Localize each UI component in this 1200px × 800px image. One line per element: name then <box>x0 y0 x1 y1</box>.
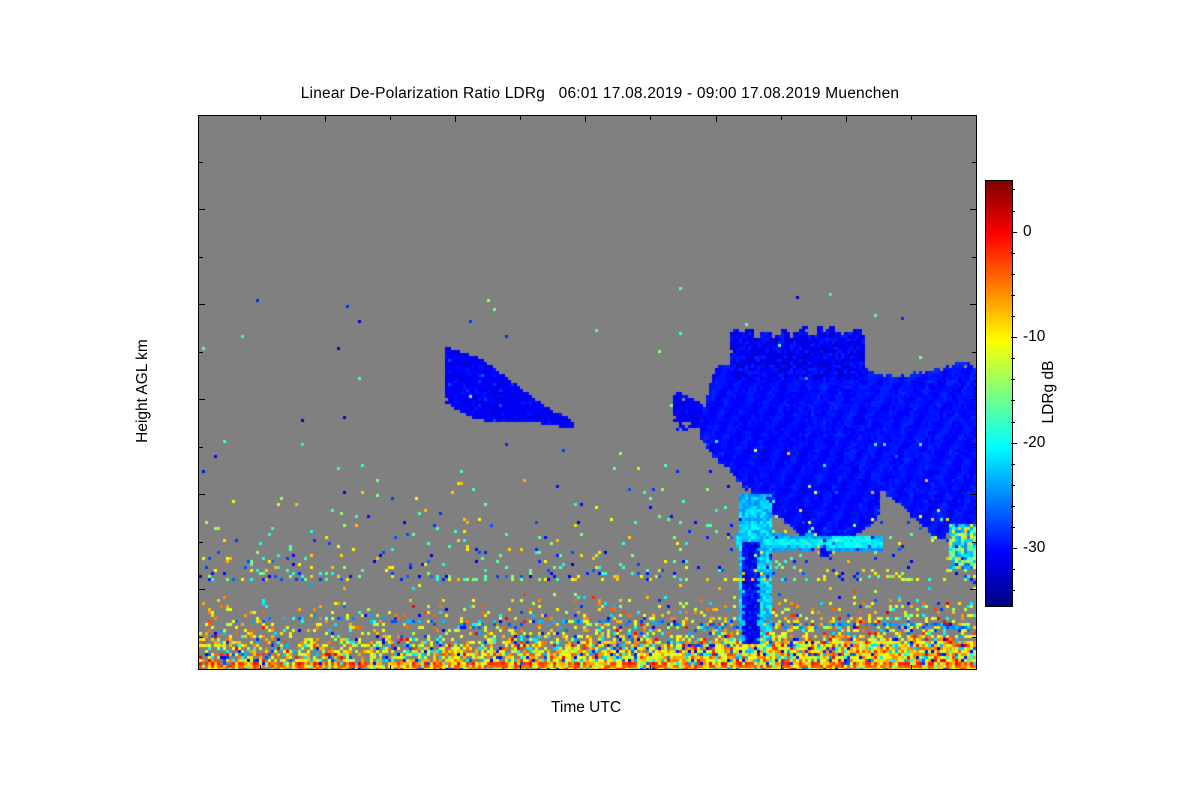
x-minor-tick <box>390 116 391 120</box>
colorbar-minor-tick <box>1011 211 1015 212</box>
x-minor-tick <box>260 665 261 669</box>
x-minor-tick <box>781 665 782 669</box>
x-tick-top <box>455 116 456 122</box>
x-minor-tick <box>781 116 782 120</box>
colorbar-label: LDRg dB <box>1040 361 1058 424</box>
colorbar-tick-label: -30 <box>1023 539 1045 557</box>
colorbar-minor-tick <box>1011 527 1015 528</box>
colorbar-minor-tick <box>1011 464 1015 465</box>
y-minor-tick <box>199 352 203 353</box>
y-minor-tick <box>972 637 976 638</box>
x-minor-tick <box>911 665 912 669</box>
x-minor-tick <box>520 665 521 669</box>
x-minor-tick <box>650 665 651 669</box>
colorbar-minor-tick <box>1011 422 1015 423</box>
colorbar-minor-tick <box>1011 358 1015 359</box>
radar-figure: Linear De-Polarization Ratio LDRg 06:01 … <box>0 0 1200 800</box>
colorbar-gradient <box>985 180 1013 607</box>
x-tick-top <box>585 116 586 122</box>
y-minor-tick <box>199 542 203 543</box>
y-tick-right <box>970 304 976 305</box>
y-tick-right <box>970 589 976 590</box>
y-tick-inner <box>199 589 205 590</box>
colorbar-tick <box>1011 337 1017 338</box>
x-minor-tick <box>390 665 391 669</box>
colorbar-tick-label: -10 <box>1023 328 1045 346</box>
x-axis-label: Time UTC <box>551 699 621 717</box>
colorbar-tick <box>1011 443 1017 444</box>
y-tick-inner <box>199 209 205 210</box>
y-minor-tick <box>199 447 203 448</box>
colorbar-minor-tick <box>1011 506 1015 507</box>
colorbar-minor-tick <box>1011 485 1015 486</box>
x-tick-top <box>976 116 977 122</box>
colorbar-minor-tick <box>1011 569 1015 570</box>
y-tick-inner <box>199 304 205 305</box>
y-axis-label: Height AGL km <box>134 339 152 443</box>
y-minor-tick <box>972 352 976 353</box>
x-minor-tick <box>650 116 651 120</box>
y-minor-tick <box>972 542 976 543</box>
x-tick-top <box>716 116 717 122</box>
colorbar-minor-tick <box>1011 590 1015 591</box>
colorbar[interactable]: 0-10-20-30 <box>985 180 1011 605</box>
plot-area[interactable]: 24681006:3007:0007:3008:0008:3009:00 <box>198 115 977 670</box>
x-minor-tick <box>260 116 261 120</box>
colorbar-minor-tick <box>1011 379 1015 380</box>
colorbar-minor-tick <box>1011 316 1015 317</box>
x-minor-tick <box>520 116 521 120</box>
y-tick-right <box>970 494 976 495</box>
x-minor-tick <box>911 116 912 120</box>
colorbar-minor-tick <box>1011 400 1015 401</box>
colorbar-minor-tick <box>1011 253 1015 254</box>
colorbar-minor-tick <box>1011 295 1015 296</box>
figure-title: Linear De-Polarization Ratio LDRg 06:01 … <box>0 85 1200 103</box>
y-minor-tick <box>972 162 976 163</box>
y-minor-tick <box>972 447 976 448</box>
x-tick <box>976 115 977 116</box>
colorbar-minor-tick <box>1011 274 1015 275</box>
y-tick-right <box>970 399 976 400</box>
ldr-heatmap-canvas <box>199 116 976 669</box>
y-minor-tick <box>199 162 203 163</box>
y-minor-tick <box>972 257 976 258</box>
colorbar-tick <box>1011 548 1017 549</box>
y-tick-right <box>970 209 976 210</box>
colorbar-minor-tick <box>1011 189 1015 190</box>
colorbar-tick-label: -20 <box>1023 434 1045 452</box>
y-tick-inner <box>199 494 205 495</box>
colorbar-tick-label: 0 <box>1023 223 1032 241</box>
y-minor-tick <box>199 257 203 258</box>
y-tick-inner <box>199 399 205 400</box>
y-minor-tick <box>199 637 203 638</box>
x-tick-top <box>846 116 847 122</box>
colorbar-canvas <box>986 181 1012 606</box>
x-tick-top <box>325 116 326 122</box>
colorbar-tick <box>1011 232 1017 233</box>
